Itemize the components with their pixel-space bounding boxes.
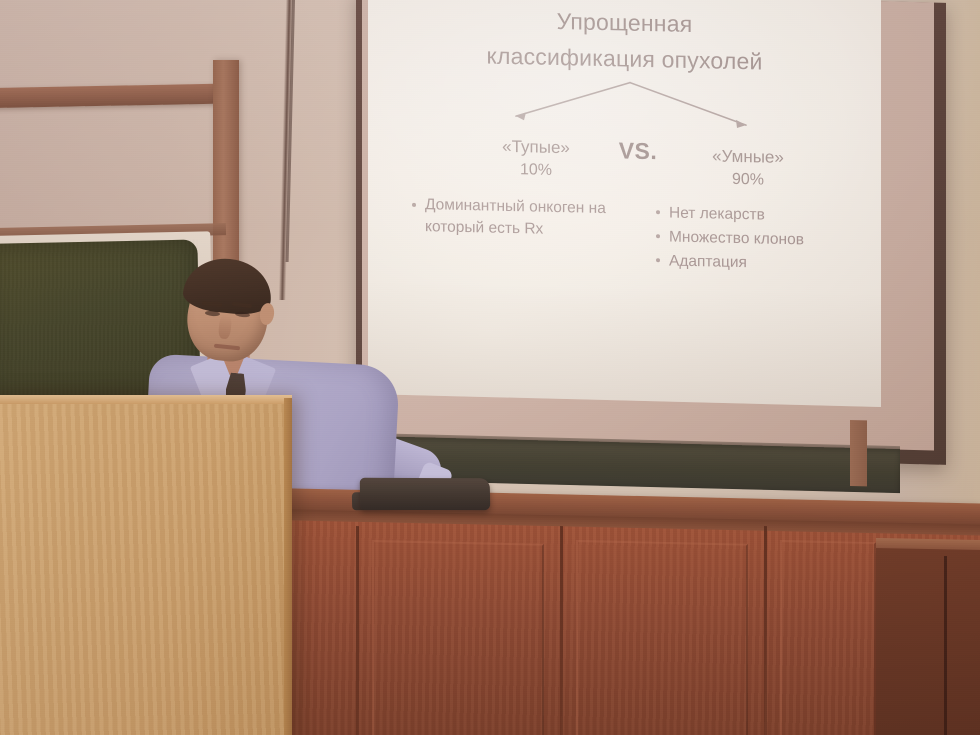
bullet-dot-icon [412,203,416,207]
bullet-text: Множество клонов [669,225,856,252]
list-item: Адаптация [656,249,856,276]
arrow-left-head [516,112,526,120]
chalkboard-strip-post [850,420,867,486]
list-item: Множество клонов [656,225,856,252]
list-item: Доминантный онкоген на который есть Rx [412,194,642,243]
bullet-list-right: Нет лекарств Множество клонов Адаптация [656,201,856,277]
arrow-left-line [516,80,630,118]
desk-panel-divider [560,526,563,735]
category-right: «Умные» 90% [688,144,808,193]
slide-title-line1: Упрощенная [557,8,693,37]
desk-panel-divider [356,526,359,735]
podium-top-edge [0,395,292,404]
podium-wood-grain [0,395,292,735]
bullet-text: Доминантный онкоген на который есть Rx [425,194,642,243]
bullet-dot-icon [656,258,660,262]
desk-panel-divider [764,526,767,735]
desk-bag [360,478,491,510]
projection-screen: Упрощенная классификация опухолей «Тупые… [368,0,881,407]
presentation-slide: Упрощенная классификация опухолей «Тупые… [368,0,881,406]
side-desk [876,548,980,735]
branching-arrows-diagram [478,73,788,140]
bullet-dot-icon [656,210,660,214]
side-desk-divider [944,556,947,735]
category-right-label: «Умные» [712,146,784,167]
bullet-dot-icon [656,234,660,238]
desk-panel-inset [372,540,544,735]
desk-panel-inset [576,540,748,735]
bullet-text: Нет лекарств [669,201,856,228]
category-right-percent: 90% [688,167,808,193]
bullet-text: Адаптация [669,249,856,276]
podium [0,395,292,735]
arrow-right-line [630,83,746,126]
lecture-photo: Упрощенная классификация опухолей «Тупые… [0,0,980,735]
desk-panel-inset [780,540,876,735]
category-left-label: «Тупые» [502,137,570,157]
category-left: «Тупые» 10% [476,134,596,183]
versus-label: VS. [603,137,673,166]
bullet-list-left: Доминантный онкоген на который есть Rx [412,194,642,244]
podium-side-edge [284,398,292,735]
category-left-percent: 10% [476,157,596,183]
list-item: Нет лекарств [656,201,856,228]
slide-title: Упрощенная классификация опухолей [368,0,881,82]
slide-title-line2: классификация опухолей [368,35,881,82]
